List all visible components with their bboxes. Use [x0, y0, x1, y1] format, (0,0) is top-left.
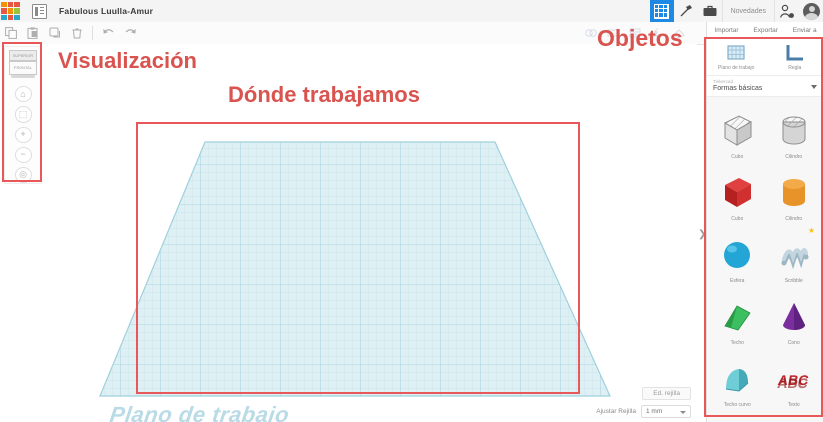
gallery-button[interactable] — [698, 0, 722, 22]
tab-enviar-a[interactable]: Enviar a — [793, 27, 817, 34]
document-title: Fabulous Luulla-Amur — [59, 6, 153, 16]
account-settings-button[interactable] — [775, 0, 799, 22]
toolbar-divider — [92, 26, 93, 40]
workplane-label: Plano de trabajo — [108, 402, 291, 422]
hammer-icon — [679, 4, 693, 18]
snap-grid-label: Ajustar Rejilla — [596, 408, 636, 415]
top-bar: Fabulous Luulla-Amur Novedades — [0, 0, 823, 23]
undo-icon[interactable] — [97, 22, 119, 44]
novedades-button[interactable]: Novedades — [722, 0, 775, 22]
grid-view-button[interactable] — [650, 0, 674, 22]
annotation-box-workplane — [136, 122, 580, 394]
document-icon — [32, 4, 47, 19]
annotation-objetos: Objetos — [597, 25, 683, 52]
tab-exportar[interactable]: Exportar — [753, 27, 778, 34]
annotation-donde-trabajamos: Dónde trabajamos — [228, 82, 420, 108]
design-tools-button[interactable] — [674, 0, 698, 22]
annotation-box-view-panel — [2, 42, 42, 182]
edit-toolbar — [0, 22, 823, 45]
copy-icon[interactable] — [0, 22, 22, 44]
redo-icon[interactable] — [119, 22, 141, 44]
snap-grid-control: Ajustar Rejilla 1 mm — [596, 405, 691, 418]
annotation-visualizacion: Visualización — [58, 48, 197, 74]
paste-icon[interactable] — [22, 22, 44, 44]
avatar[interactable] — [803, 3, 820, 20]
duplicate-icon[interactable] — [44, 22, 66, 44]
snap-grid-select[interactable]: 1 mm — [641, 405, 691, 418]
top-bar-right: Novedades — [650, 0, 823, 22]
annotation-box-shapes-panel — [704, 37, 823, 417]
tinkercad-app: Fabulous Luulla-Amur Novedades — [0, 0, 823, 422]
person-gear-icon — [779, 4, 795, 19]
grid-edit-button[interactable]: Ed. rejilla — [642, 387, 691, 400]
autodesk-tinkercad-logo[interactable] — [1, 2, 20, 21]
tab-importar[interactable]: Importar — [714, 27, 738, 34]
grid-icon — [654, 4, 669, 19]
briefcase-icon — [703, 5, 717, 17]
delete-icon[interactable] — [66, 22, 88, 44]
